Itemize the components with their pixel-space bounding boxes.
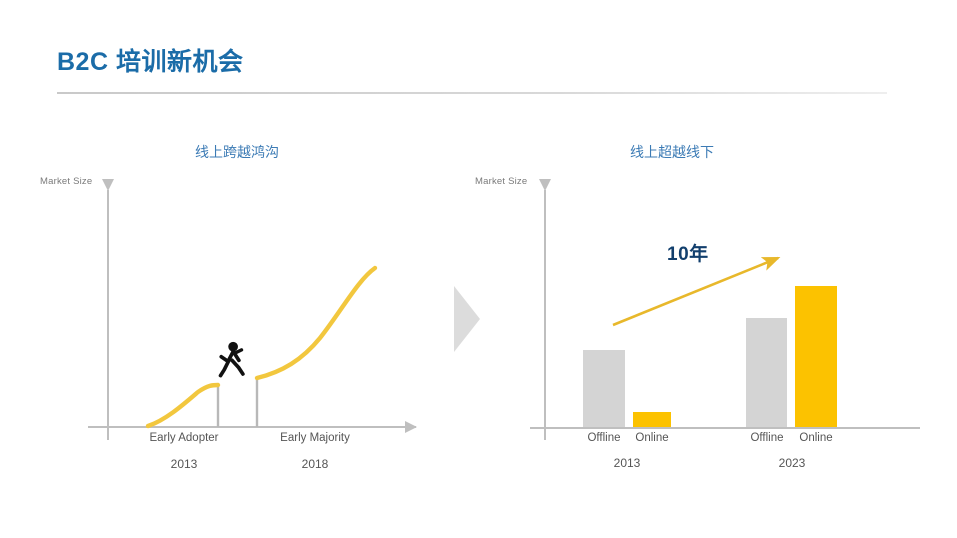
right-chart-panel: 线上超越线下 Market Size Offline Online 2013 O… xyxy=(460,120,940,490)
bar-label-2013-online: Online xyxy=(616,432,688,444)
right-chart-graphic xyxy=(460,120,940,490)
bar-2013-offline xyxy=(583,350,625,427)
title-divider xyxy=(57,92,887,94)
bar-2023-offline xyxy=(746,318,787,427)
page-title: B2C 培训新机会 xyxy=(57,42,243,78)
phase-label-early-adopter: Early Adopter xyxy=(126,432,242,444)
phase-year-2018: 2018 xyxy=(257,457,373,471)
bar-group-year-2013: 2013 xyxy=(572,456,682,470)
bar-group-year-2023: 2023 xyxy=(737,456,847,470)
bar-2013-online xyxy=(633,412,671,427)
phase-year-2013: 2013 xyxy=(126,457,242,471)
adoption-curve-segment-2 xyxy=(257,268,375,378)
adoption-curve-segment-1 xyxy=(148,385,218,426)
growth-arrow xyxy=(613,258,778,325)
bar-label-2023-online: Online xyxy=(780,432,852,444)
bars-baseline xyxy=(530,427,920,429)
ten-year-annotation: 10年 xyxy=(667,239,709,266)
phase-label-early-majority: Early Majority xyxy=(257,432,373,444)
running-person-icon xyxy=(221,342,243,376)
left-chart-panel: 线上跨越鸿沟 Market Size Early Adopter xyxy=(20,120,450,490)
bar-2023-online xyxy=(795,286,837,427)
